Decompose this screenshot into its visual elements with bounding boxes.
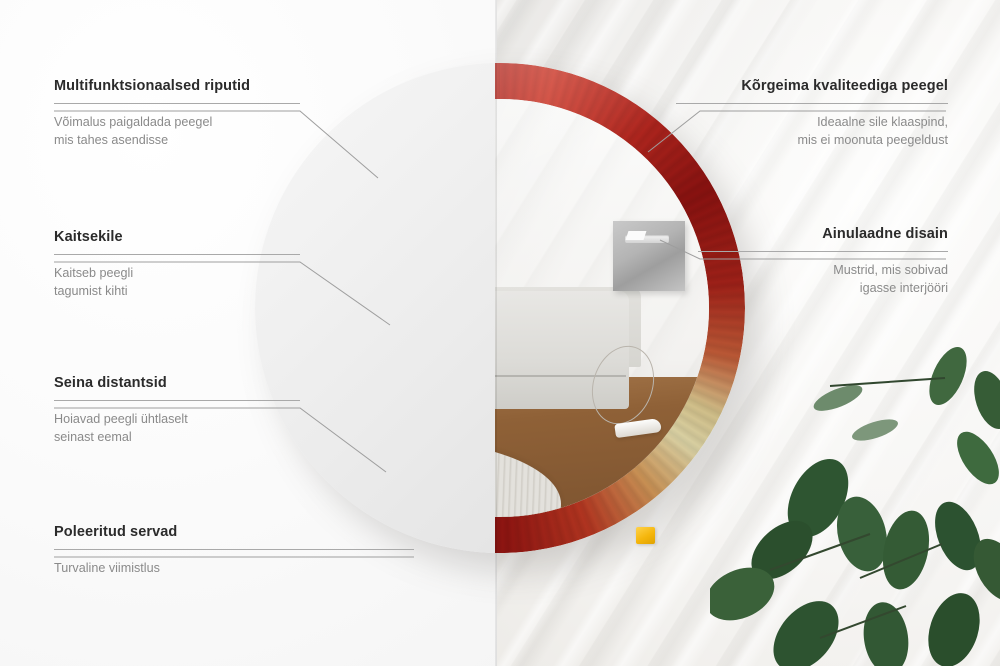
infographic-canvas: Multifunktsionaalsed riputid Võimalus pa… [0,0,1000,666]
callout-title: Seina distantsid [54,375,300,391]
panel-divider [495,0,497,666]
callout-kaitsekile: Kaitsekile Kaitseb peegli tagumist kihti [54,229,300,301]
callout-description: Turvaline viimistlus [54,560,414,578]
callout-description: Võimalus paigaldada peegel mis tahes ase… [54,114,300,150]
callout-title: Ainulaadne disain [698,226,948,242]
mirror-product [255,63,745,553]
callout-rule [676,103,948,104]
hanger-slot [625,235,669,243]
callout-description: Ideaalne sile klaaspind, mis ei moonuta … [676,114,948,150]
callout-description: Kaitseb peegli tagumist kihti [54,265,300,301]
callout-rule [54,103,300,104]
callout-description: Mustrid, mis sobivad igasse interjööri [698,262,948,298]
eucalyptus-branches [710,338,1000,666]
callout-rule [54,549,414,550]
callout-rule [54,400,300,401]
callout-multifunktsionaalsed-riputid: Multifunktsionaalsed riputid Võimalus pa… [54,78,300,150]
callout-korgeima-kvaliteediga-peegel: Kõrgeima kvaliteediga peegel Ideaalne si… [676,78,948,150]
callout-title: Kõrgeima kvaliteediga peegel [676,78,948,94]
callout-rule [54,254,300,255]
callout-seina-distantsid: Seina distantsid Hoiavad peegli ühtlasel… [54,375,300,447]
wall-hanger-plate [613,221,685,291]
callout-poleeritud-servad: Poleeritud servad Turvaline viimistlus [54,524,414,578]
wall-spacer [636,527,655,544]
callout-title: Kaitsekile [54,229,300,245]
callout-rule [698,251,948,252]
callout-title: Poleeritud servad [54,524,414,540]
callout-ainulaadne-disain: Ainulaadne disain Mustrid, mis sobivad i… [698,226,948,298]
callout-description: Hoiavad peegli ühtlaselt seinast eemal [54,411,300,447]
callout-title: Multifunktsionaalsed riputid [54,78,300,94]
